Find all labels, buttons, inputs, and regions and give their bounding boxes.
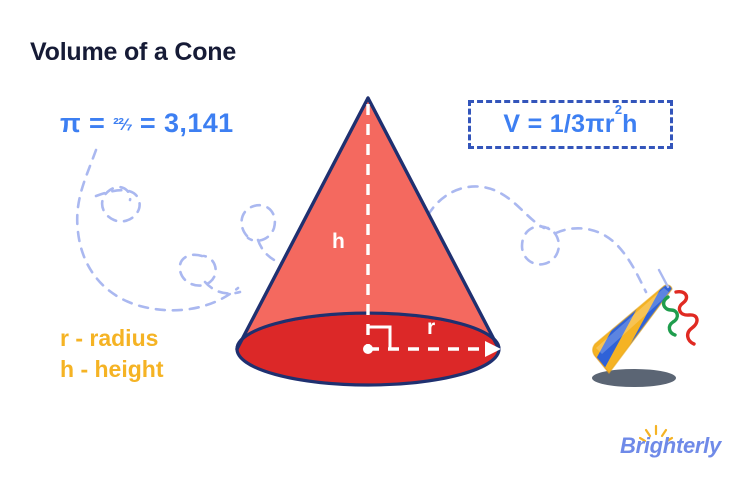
streamer-stem [659,270,668,287]
formula-exponent: 2 [615,102,622,117]
pi-symbol: π [60,108,81,138]
cone-center-dot [363,344,373,354]
illustration-layer [0,0,744,496]
legend-item-radius: r - radius [60,323,163,354]
dashed-swirl-left-icon [77,150,286,310]
formula-main: V = 1/3πr [503,110,615,138]
cone-radius-label: r [427,316,435,340]
brighterly-logo: Brighterly [620,433,721,459]
party-hat-illustration [564,264,697,404]
legend-item-height: h - height [60,354,163,385]
page-title: Volume of a Cone [30,38,236,67]
cone-shape [237,98,499,385]
formula-box: V = 1/3πr2h [468,100,673,149]
formula-text: V = 1/3πr2h [503,110,637,139]
cone-height-label: h [332,230,345,254]
legend: r - radius h - height [60,323,163,385]
pi-expression: π = ²²⁄₇ = 3,141 [60,108,234,139]
streamer-green [664,297,678,335]
pi-fraction: ²²⁄₇ [113,115,132,134]
party-hat-shadow [592,369,676,387]
pi-equals-first: = [81,108,113,138]
pi-equals-second: = [132,108,164,138]
formula-tail: h [622,110,638,138]
infographic-canvas: Volume of a Cone π = ²²⁄₇ = 3,141 V = 1/… [0,0,744,496]
pi-value: 3,141 [164,108,234,138]
streamer-red [676,292,697,344]
party-hat-highlight [596,288,670,354]
